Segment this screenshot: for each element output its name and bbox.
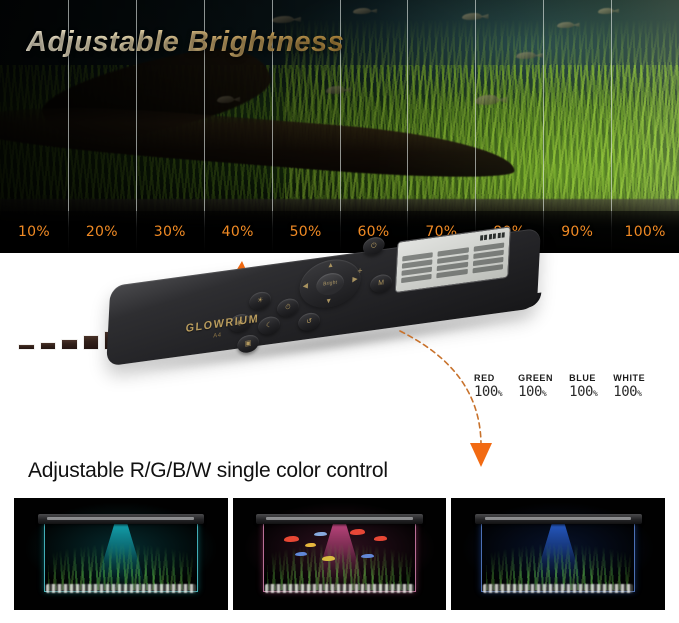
brightness-bar (40, 342, 57, 350)
fish-silhouette (326, 86, 345, 94)
rgbw-channel-label: BLUE (569, 373, 597, 383)
rgbw-value-unit: % (637, 389, 641, 398)
aquarium-light-bar (38, 514, 205, 524)
dpad-right-icon[interactable]: ▶ (352, 276, 358, 284)
brightness-level-label: 100% (611, 211, 679, 253)
rgbw-channel-red: RED100% (474, 373, 502, 400)
brightness-level-label: 10% (0, 211, 68, 253)
aquatic-plants (267, 543, 412, 590)
rgbw-channel-label: RED (474, 373, 502, 383)
tank-photo-blue (451, 498, 665, 610)
page-title: Adjustable Brightness (26, 26, 344, 59)
lcd-block (488, 234, 491, 240)
fish-silhouette (516, 52, 536, 59)
lcd-block (493, 233, 496, 239)
tank-fish (284, 536, 299, 542)
rgbw-section-heading: Adjustable R/G/B/W single color control (28, 459, 388, 483)
brightness-bar (83, 335, 100, 350)
rgbw-channel-value: 100% (474, 384, 502, 400)
gravel-substrate (265, 584, 415, 593)
rgbw-value-number: 100 (518, 384, 542, 400)
dpad-up-icon[interactable]: ▲ (327, 262, 334, 270)
aquatic-plants (486, 543, 631, 590)
fish-silhouette (462, 13, 482, 20)
fish-silhouette (598, 8, 614, 14)
rgbw-value-number: 100 (474, 384, 498, 400)
rgbw-value-number: 100 (569, 384, 593, 400)
brightness-bar (61, 339, 78, 350)
brightness-level-label: 20% (68, 211, 136, 253)
rgbw-value-unit: % (593, 389, 597, 398)
rgbw-channel-value: 100% (569, 384, 597, 400)
tank-photo-gallery (0, 498, 679, 623)
fish-silhouette (353, 8, 371, 14)
rgbw-value-unit: % (542, 389, 546, 398)
lcd-block (480, 235, 483, 241)
rgbw-value-number: 100 (613, 384, 637, 400)
brightness-bar (18, 344, 35, 350)
tank-photo-cyan (14, 498, 228, 610)
plus-icon[interactable]: + (357, 266, 363, 276)
rgbw-channel-white: WHITE100% (613, 373, 645, 400)
rgbw-value-unit: % (498, 389, 502, 398)
brightness-level-label: 40% (204, 211, 272, 253)
dpad-center-button[interactable]: Bright (316, 271, 345, 296)
lcd-block (497, 233, 500, 239)
aquatic-plants (48, 543, 193, 590)
rgbw-channel-value: 100% (613, 384, 645, 400)
lcd-block (484, 235, 487, 241)
brightness-level-label: 90% (543, 211, 611, 253)
rgbw-channel-label: GREEN (518, 373, 553, 383)
rgbw-channel-green: GREEN100% (518, 373, 553, 400)
fish-silhouette (557, 22, 574, 28)
tank-photo-magenta (233, 498, 447, 610)
dpad-down-icon[interactable]: ▼ (325, 298, 332, 306)
brightness-banner: Adjustable Brightness 10%20%30%40%50%60%… (0, 0, 679, 253)
lcd-level-blocks (480, 232, 505, 241)
gravel-substrate (483, 584, 633, 593)
dpad-left-icon[interactable]: ◀ (303, 282, 309, 290)
rgbw-readout-panel: RED100%GREEN100%BLUE100%WHITE100% (474, 373, 645, 400)
gravel-substrate (46, 584, 196, 593)
remote-model-label: A4 (213, 332, 222, 339)
brightness-level-label: 30% (136, 211, 204, 253)
rgbw-channel-label: WHITE (613, 373, 645, 383)
remote-control-section: ▲ ▼ ◀ ▶ Bright ⏻ M ⏱ ☀ ☾ ◉ ▣ ↺ + GLOWRIU… (0, 253, 679, 498)
aquarium-light-bar (475, 514, 642, 524)
rgbw-channel-blue: BLUE100% (569, 373, 597, 400)
tank-fish (374, 536, 387, 540)
lcd-block (502, 232, 505, 238)
tank-fish (322, 556, 335, 560)
fish-silhouette (272, 16, 294, 23)
tank-fish (314, 532, 327, 536)
aquarium-light-bar (256, 514, 423, 524)
rgbw-channel-value: 100% (518, 384, 553, 400)
tank-fish (350, 529, 365, 535)
